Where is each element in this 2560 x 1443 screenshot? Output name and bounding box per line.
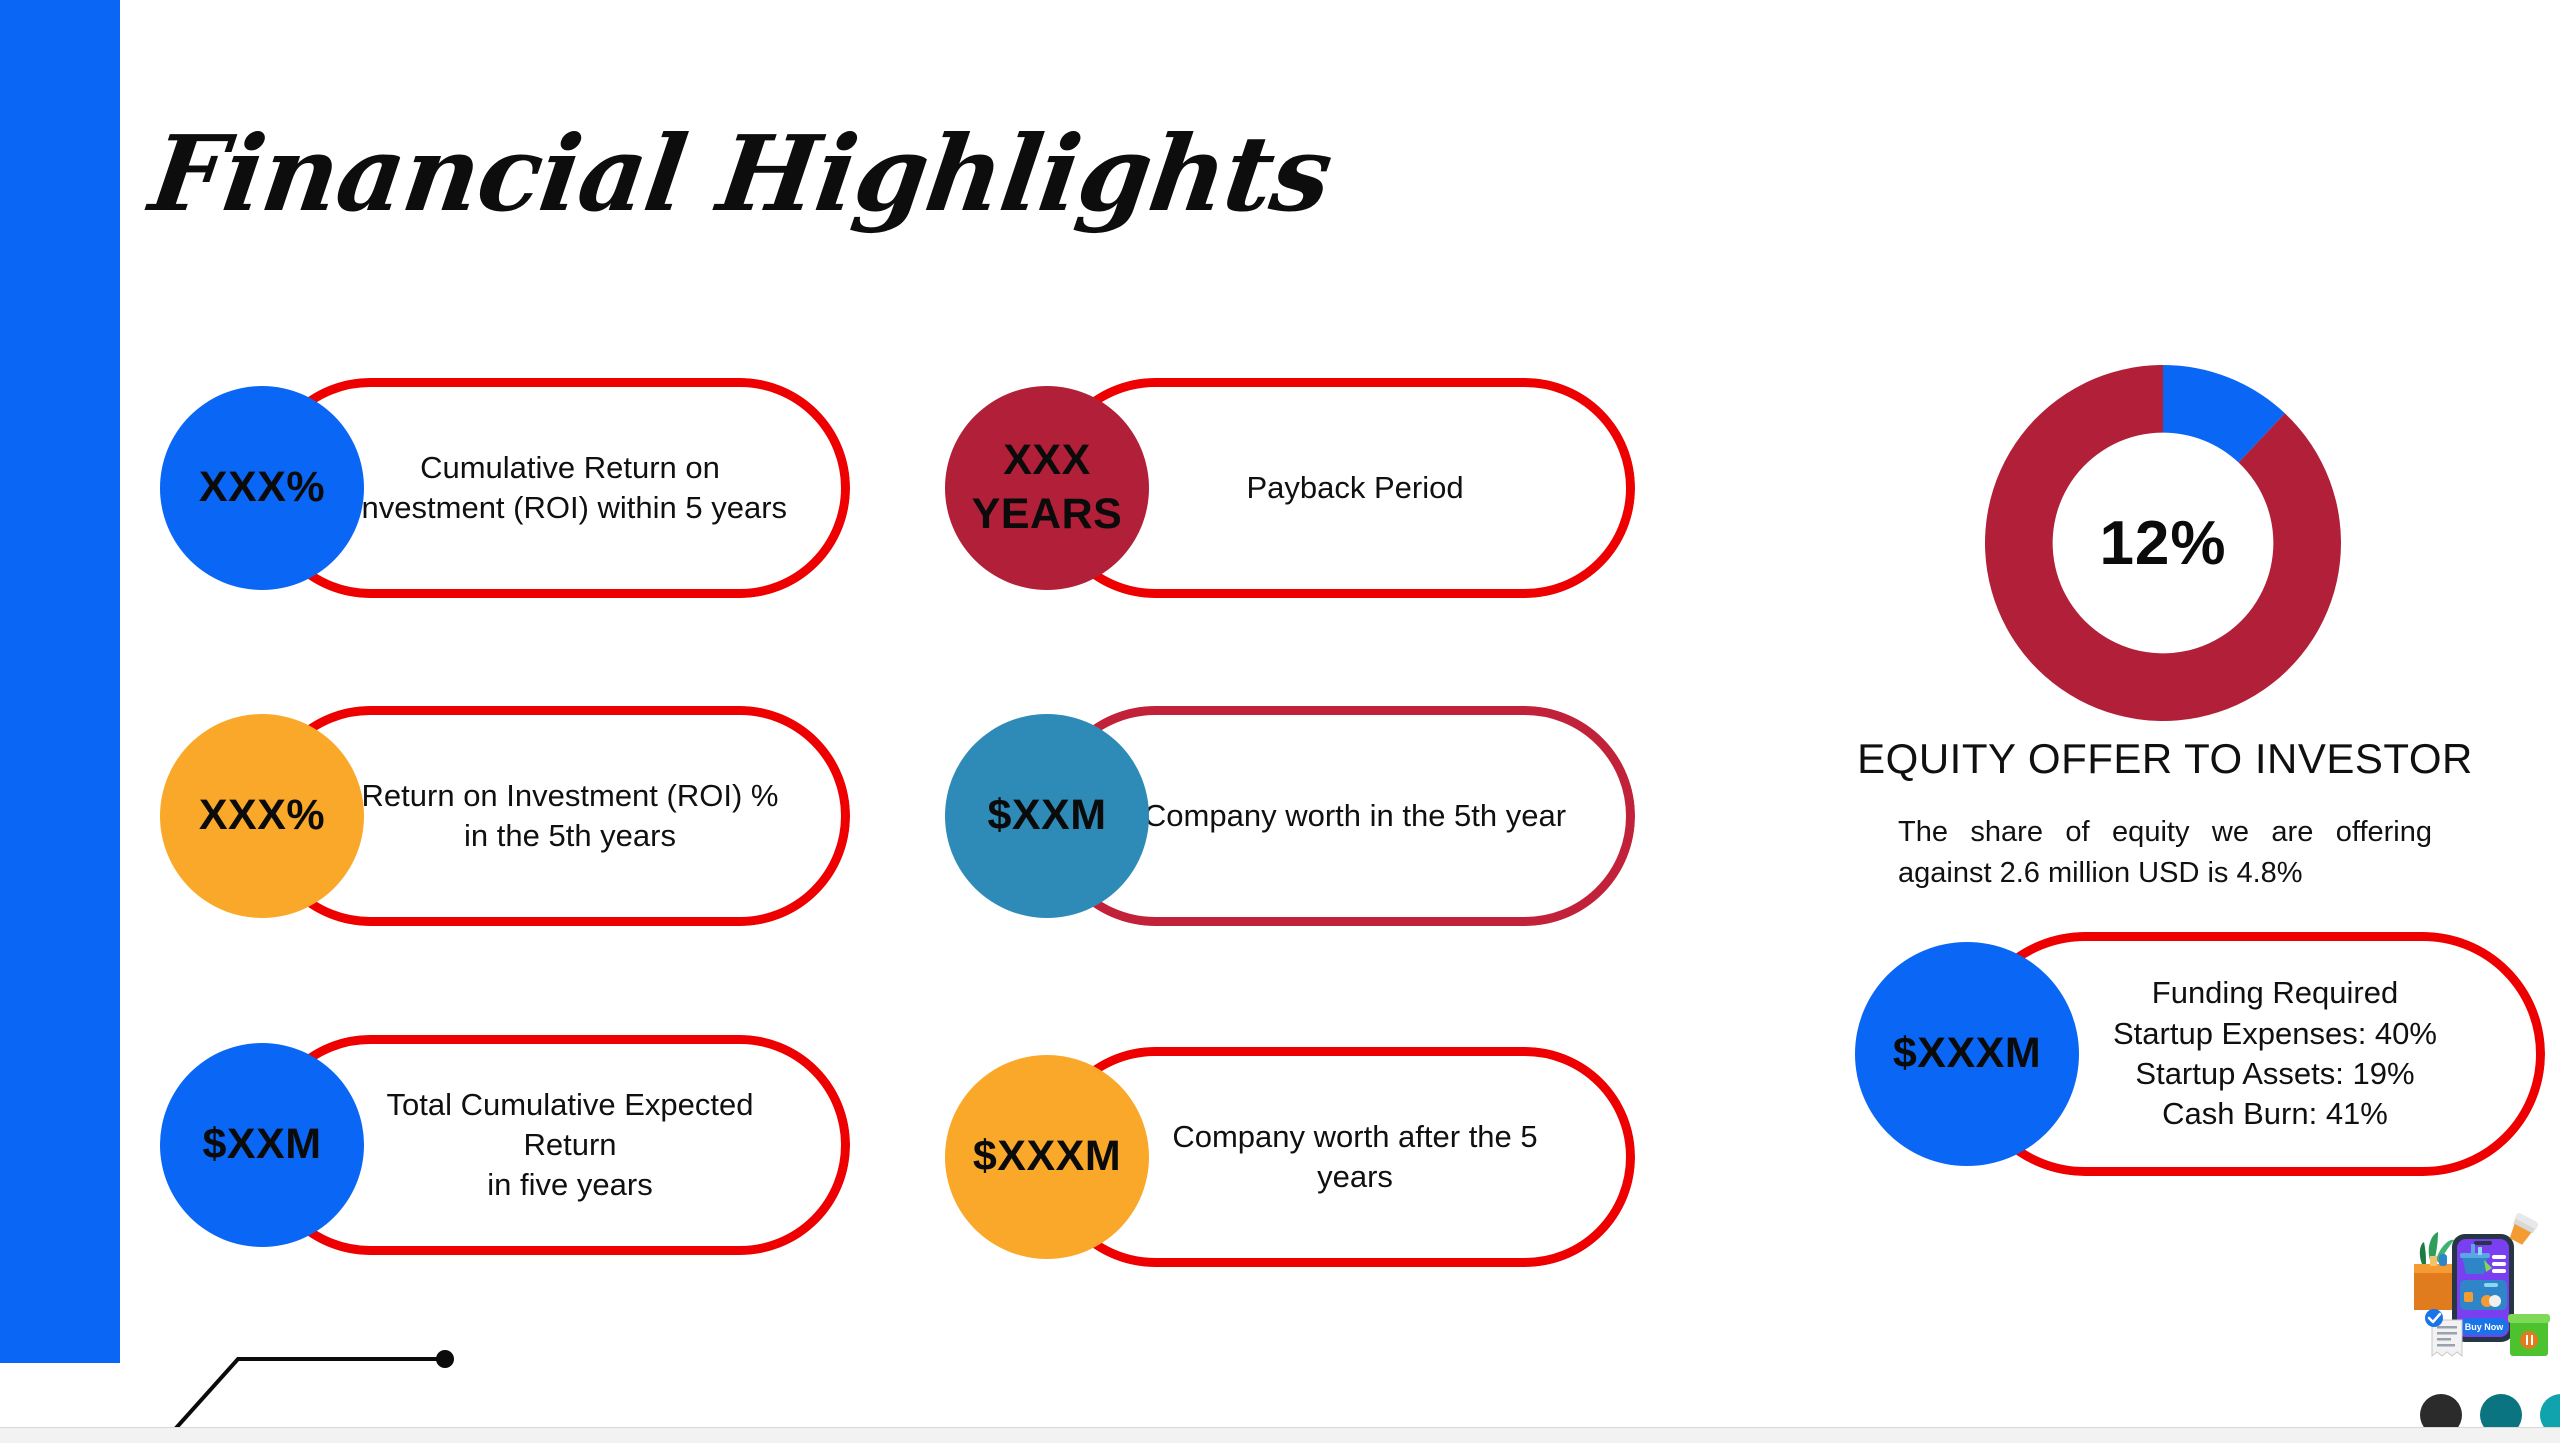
card-label-wrap: Total Cumulative Expected Returnin five …: [320, 1035, 820, 1255]
card-label: Total Cumulative Expected Returnin five …: [346, 1085, 794, 1206]
metric-card-roi-cumulative[interactable]: Cumulative Return on Investment (ROI) wi…: [160, 378, 850, 598]
card-label-wrap: Return on Investment (ROI) % in the 5th …: [320, 706, 820, 926]
card-value-bubble: $XXM: [945, 714, 1149, 918]
funding-value-bubble: $XXXM: [1855, 942, 2079, 1166]
equity-body-text: The share of equity we are offering agai…: [1898, 812, 2432, 894]
left-accent-bar: [0, 0, 120, 1363]
card-value-bubble: XXXYEARS: [945, 386, 1149, 590]
card-value: $XXM: [987, 791, 1106, 840]
card-value-bubble: XXX%: [160, 386, 364, 590]
metric-card-company-worth-5th-year[interactable]: Company worth in the 5th year $XXM: [945, 706, 1635, 926]
equity-heading: EQUITY OFFER TO INVESTOR: [1835, 735, 2495, 783]
card-value: $XXM: [202, 1120, 321, 1169]
card-label: Payback Period: [1246, 468, 1463, 508]
funding-line-cash-burn: Cash Burn: 41%: [2162, 1096, 2388, 1131]
card-label-wrap: Company worth in the 5th year: [1105, 706, 1605, 926]
card-label: Company worth after the 5 years: [1131, 1117, 1579, 1198]
funding-value: $XXXM: [1893, 1029, 2041, 1078]
card-value-bubble: $XXXM: [945, 1055, 1149, 1259]
metric-card-total-cumulative-return[interactable]: Total Cumulative Expected Returnin five …: [160, 1035, 850, 1255]
card-value-bubble: XXX%: [160, 714, 364, 918]
metric-card-payback-period[interactable]: Payback Period XXXYEARS: [945, 378, 1635, 598]
funding-label-lines: Funding Required Startup Expenses: 40% S…: [2113, 973, 2437, 1134]
card-label: Cumulative Return on Investment (ROI) wi…: [346, 448, 794, 529]
equity-donut-chart: 12%: [1985, 365, 2341, 721]
card-label-wrap: Cumulative Return on Investment (ROI) wi…: [320, 378, 820, 598]
ecommerce-illustration: Buy Now: [2392, 1208, 2552, 1368]
funding-required-card[interactable]: Funding Required Startup Expenses: 40% S…: [1855, 932, 2545, 1176]
metric-card-roi-5th-year[interactable]: Return on Investment (ROI) % in the 5th …: [160, 706, 850, 926]
donut-center-label: 12%: [1985, 365, 2341, 721]
card-label: Company worth in the 5th year: [1144, 796, 1566, 836]
card-value: XXX%: [199, 791, 325, 840]
funding-line-title: Funding Required: [2152, 975, 2398, 1010]
metric-card-company-worth-after-5-years[interactable]: Company worth after the 5 years $XXXM: [945, 1047, 1635, 1267]
page-title: Financial Highlights: [143, 112, 1338, 235]
card-label-wrap: Company worth after the 5 years: [1105, 1047, 1605, 1267]
card-label: Return on Investment (ROI) % in the 5th …: [346, 776, 794, 857]
card-value: $XXXM: [973, 1132, 1121, 1181]
card-value: XXX%: [199, 463, 325, 512]
card-label-wrap: Payback Period: [1105, 378, 1605, 598]
bottom-strip: [0, 1428, 2560, 1443]
card-value: XXXYEARS: [972, 434, 1123, 542]
illustration-buy-now-label: Buy Now: [2465, 1322, 2505, 1332]
funding-line-startup-expenses: Startup Expenses: 40%: [2113, 1016, 2437, 1051]
funding-label-wrap: Funding Required Startup Expenses: 40% S…: [2025, 932, 2525, 1176]
polyline-dot-end: [436, 1350, 454, 1368]
card-value-bubble: $XXM: [160, 1043, 364, 1247]
funding-line-startup-assets: Startup Assets: 19%: [2135, 1056, 2414, 1091]
ecommerce-illustration-svg: Buy Now: [2392, 1208, 2552, 1368]
